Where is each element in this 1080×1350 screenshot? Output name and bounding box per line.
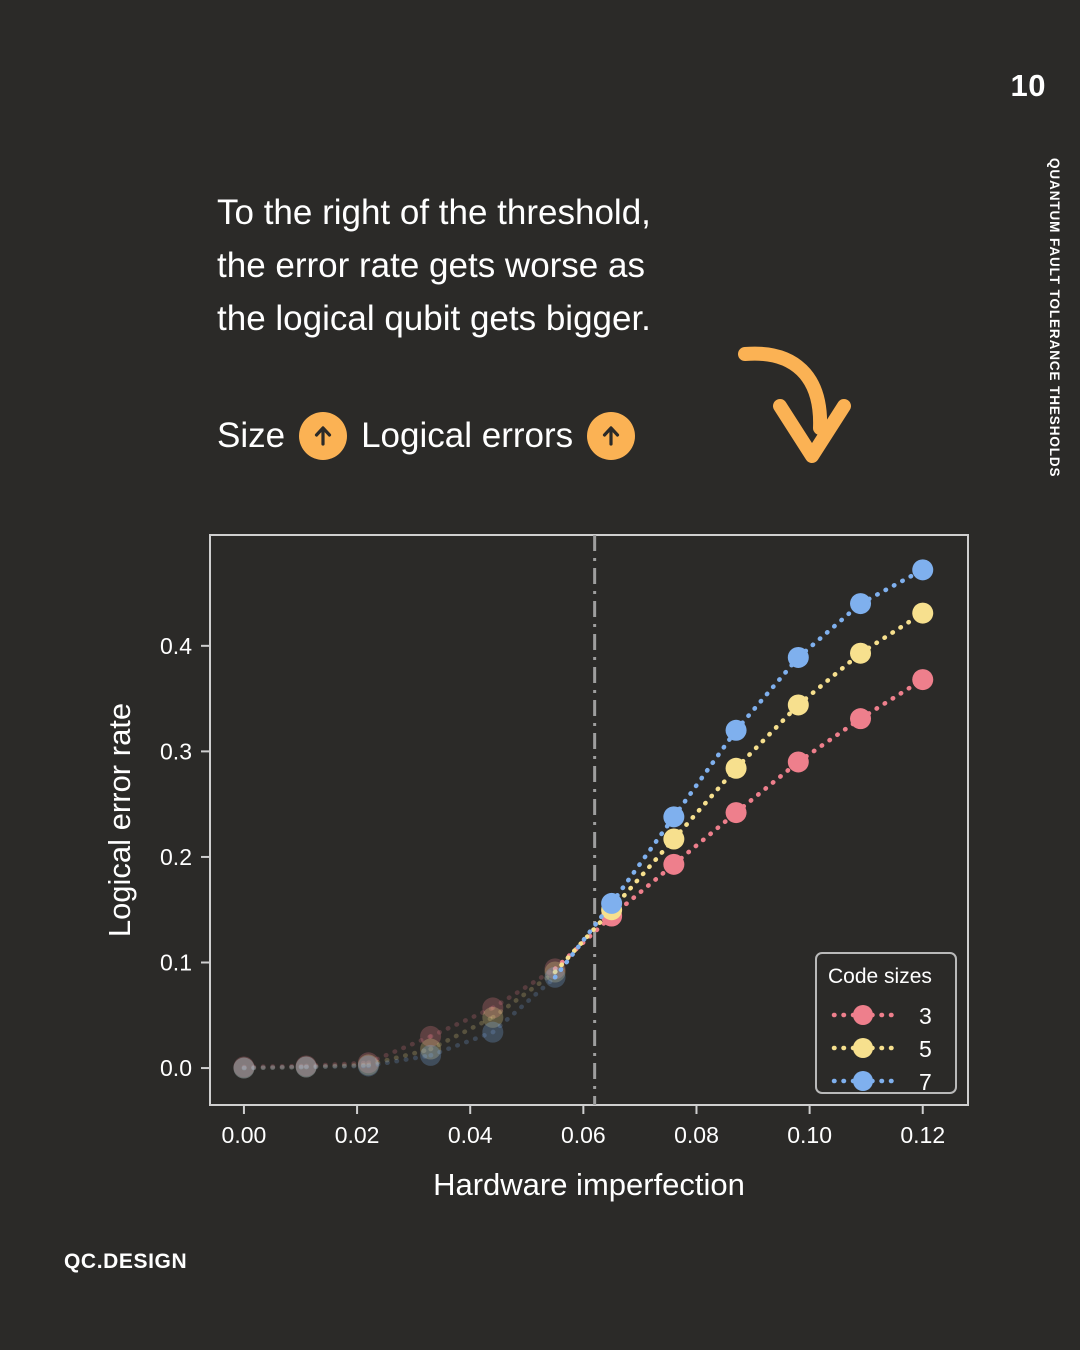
- data-point: [482, 1022, 503, 1043]
- series-segment: [244, 1066, 306, 1067]
- x-tick-label: 0.12: [900, 1122, 945, 1148]
- series-segment: [244, 1067, 306, 1068]
- series-segment: [612, 839, 674, 910]
- curved-down-arrow-icon: [736, 332, 868, 476]
- data-point: [358, 1052, 379, 1073]
- series-3: [233, 669, 933, 1077]
- data-point: [233, 1057, 254, 1078]
- series-segment: [861, 570, 923, 604]
- headline-line-3: the logical qubit gets bigger.: [217, 292, 777, 345]
- data-point: [726, 758, 747, 779]
- series-segment: [244, 1067, 306, 1068]
- data-point: [420, 1039, 441, 1060]
- data-point: [545, 967, 566, 988]
- data-point: [601, 893, 622, 914]
- x-tick-label: 0.10: [787, 1122, 832, 1148]
- data-point: [482, 997, 503, 1018]
- series-segment: [674, 730, 736, 817]
- series-segment: [555, 916, 612, 969]
- data-point: [420, 1045, 441, 1066]
- data-point: [912, 559, 933, 580]
- series-segment: [368, 1036, 430, 1062]
- deck-section-title: QUANTUM FAULT TOLERANCE THESHOLDS: [1047, 158, 1062, 477]
- series-segment: [674, 768, 736, 839]
- slide-root: 10 QUANTUM FAULT TOLERANCE THESHOLDS To …: [0, 0, 1080, 1350]
- series-segment: [555, 910, 612, 972]
- series-segment: [306, 1066, 368, 1067]
- legend-swatch-marker: [853, 1038, 873, 1058]
- data-point: [482, 1007, 503, 1028]
- series-segment: [306, 1063, 368, 1066]
- x-axis-label: Hardware imperfection: [433, 1167, 745, 1202]
- page-number: 10: [1011, 68, 1046, 104]
- logical-errors-label: Logical errors: [361, 416, 573, 456]
- series-segment: [861, 680, 923, 719]
- series-segment: [306, 1065, 368, 1067]
- y-tick-label: 0.1: [160, 950, 192, 976]
- data-point: [912, 669, 933, 690]
- x-tick-label: 0.04: [448, 1122, 493, 1148]
- y-tick-label: 0.3: [160, 738, 192, 764]
- data-point: [850, 593, 871, 614]
- series-segment: [612, 864, 674, 916]
- series-segment: [674, 813, 736, 865]
- series-segment: [493, 969, 555, 1008]
- data-point: [233, 1058, 254, 1079]
- data-point: [726, 802, 747, 823]
- y-tick-label: 0.0: [160, 1055, 192, 1081]
- headline-line-1: To the right of the threshold,: [217, 186, 777, 239]
- data-point: [663, 854, 684, 875]
- data-point: [726, 720, 747, 741]
- data-point: [296, 1055, 317, 1076]
- headline: To the right of the threshold, the error…: [217, 186, 777, 345]
- size-errors-callout: Size Logical errors: [217, 412, 635, 460]
- series-segment: [861, 613, 923, 653]
- series-segment: [431, 1008, 493, 1037]
- legend-swatch-marker: [853, 1005, 873, 1025]
- x-tick-label: 0.08: [674, 1122, 719, 1148]
- y-axis-label: Logical error rate: [102, 703, 137, 937]
- y-tick-label: 0.2: [160, 844, 192, 870]
- arrow-up-icon: [587, 412, 635, 460]
- data-point: [850, 643, 871, 664]
- brand-logo: QC.DESIGN: [64, 1250, 187, 1274]
- legend: Code sizes357: [816, 953, 956, 1095]
- series-segment: [368, 1055, 430, 1066]
- data-point: [601, 899, 622, 920]
- size-label: Size: [217, 416, 285, 456]
- x-tick-label: 0.00: [222, 1122, 267, 1148]
- legend-label: 7: [919, 1069, 932, 1095]
- x-tick-label: 0.06: [561, 1122, 606, 1148]
- series-segment: [798, 604, 860, 658]
- series-segment: [736, 705, 798, 768]
- data-point: [912, 603, 933, 624]
- series-segment: [493, 977, 555, 1032]
- plot-frame: [210, 535, 968, 1105]
- data-point: [850, 708, 871, 729]
- data-point: [788, 751, 809, 772]
- data-point: [663, 806, 684, 827]
- data-point: [788, 647, 809, 668]
- data-point: [296, 1057, 317, 1078]
- legend-box: [816, 953, 956, 1093]
- data-point: [545, 962, 566, 983]
- data-point: [358, 1055, 379, 1076]
- series-segment: [798, 653, 860, 705]
- data-point: [358, 1054, 379, 1075]
- series-segment: [798, 719, 860, 762]
- arrow-up-icon: [299, 412, 347, 460]
- series-segment: [493, 972, 555, 1017]
- series-segment: [431, 1032, 493, 1055]
- x-tick-label: 0.02: [335, 1122, 380, 1148]
- y-tick-label: 0.4: [160, 633, 192, 659]
- data-point: [601, 906, 622, 927]
- series-segment: [736, 762, 798, 813]
- legend-label: 5: [919, 1036, 932, 1062]
- series-segment: [555, 903, 612, 977]
- series-7: [233, 559, 933, 1078]
- headline-line-2: the error rate gets worse as: [217, 239, 777, 292]
- data-point: [233, 1058, 254, 1079]
- legend-title: Code sizes: [828, 965, 932, 988]
- series-segment: [431, 1017, 493, 1049]
- data-point: [545, 958, 566, 979]
- legend-label: 3: [919, 1003, 932, 1029]
- series-segment: [612, 817, 674, 904]
- data-point: [296, 1057, 317, 1078]
- series-segment: [368, 1049, 430, 1065]
- legend-swatch-marker: [853, 1071, 873, 1091]
- data-point: [788, 694, 809, 715]
- data-point: [663, 829, 684, 850]
- series-5: [233, 603, 933, 1079]
- series-segment: [736, 657, 798, 730]
- data-point: [420, 1026, 441, 1047]
